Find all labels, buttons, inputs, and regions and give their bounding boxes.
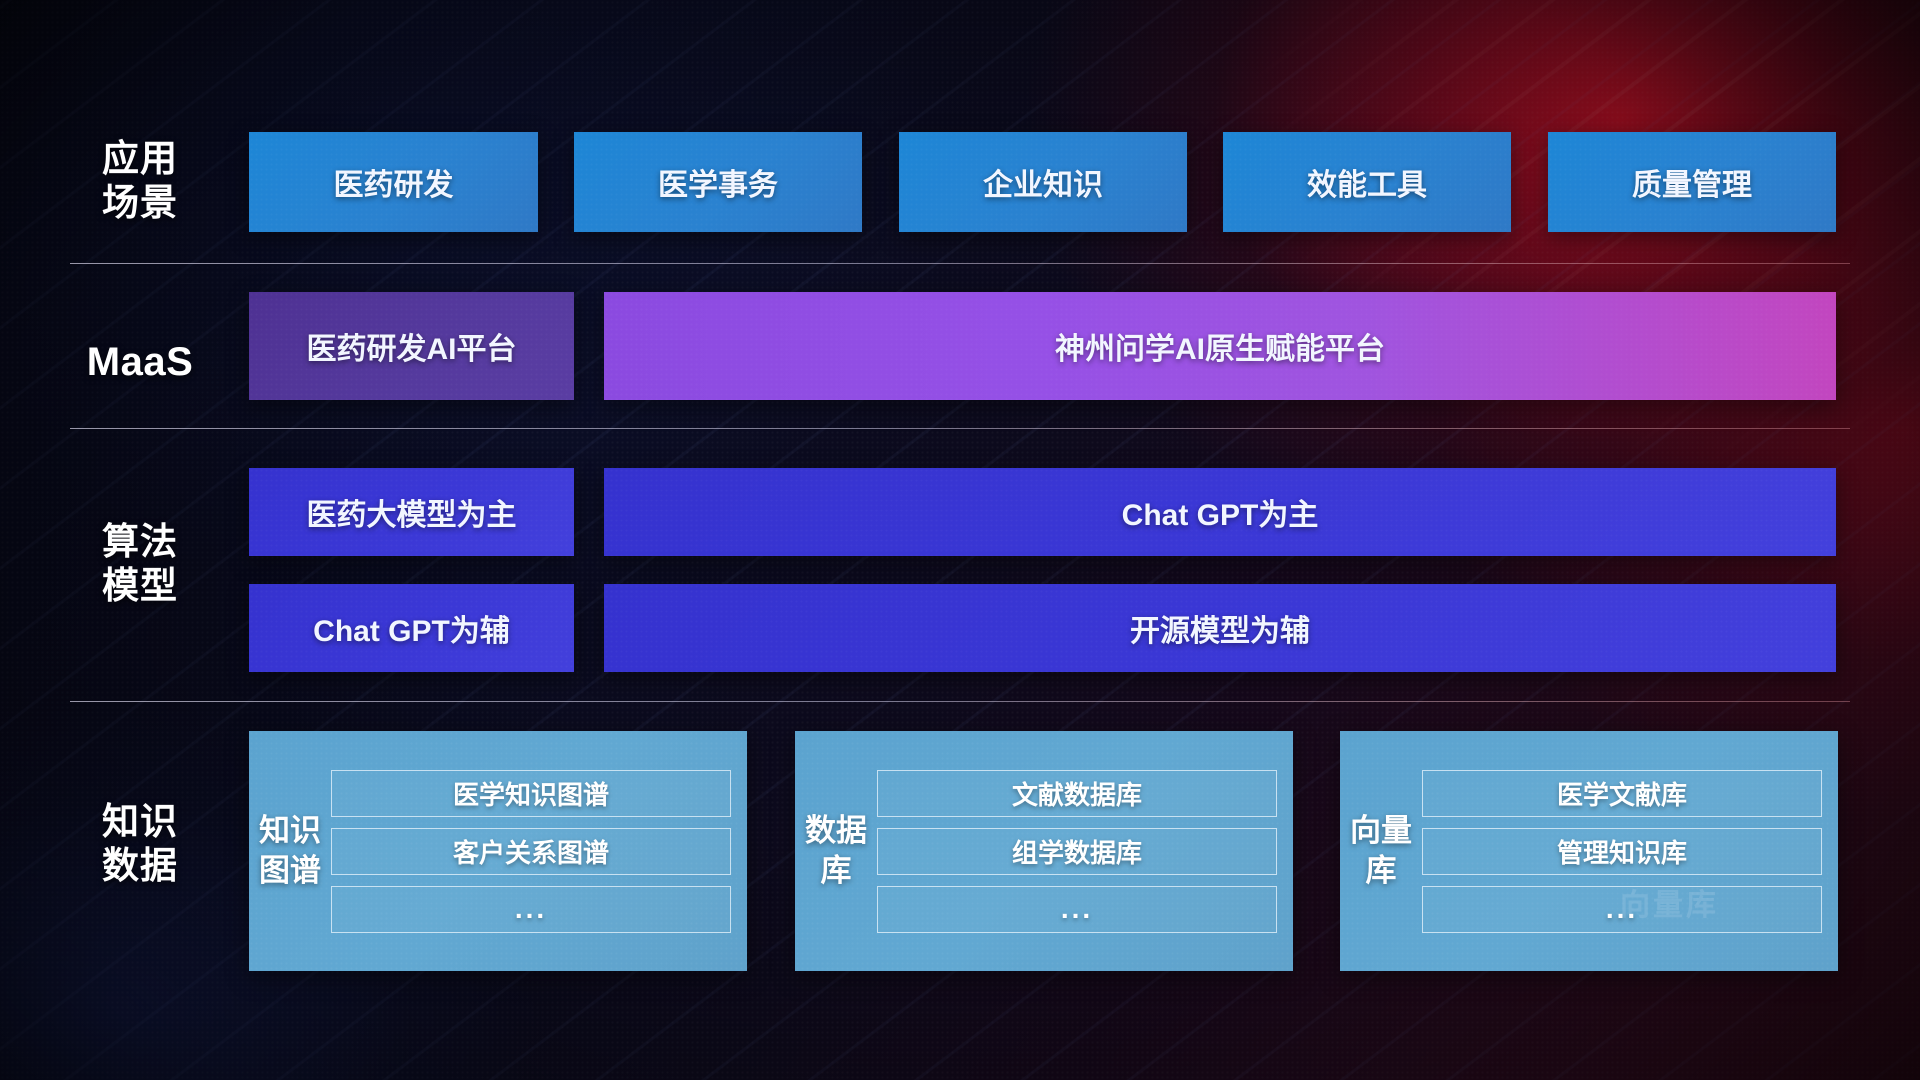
row-label-algorithm: 算法 模型 xyxy=(70,520,210,607)
divider-algorithm-knowledge xyxy=(70,701,1850,702)
knowledge-item-omics-database[interactable]: 组学数据库 xyxy=(877,828,1277,875)
app-box-quality-management-label: 质量管理 xyxy=(1632,160,1752,204)
row-label-algorithm-line2: 模型 xyxy=(70,564,210,608)
knowledge-item-customer-relation-graph[interactable]: 客户关系图谱 xyxy=(331,828,731,875)
knowledge-group-knowledge-graph[interactable]: 知识图谱 医学知识图谱 客户关系图谱 ... xyxy=(249,731,747,971)
maas-box-shenzhou-wenxue-platform-label: 神州问学AI原生赋能平台 xyxy=(1055,324,1385,368)
row-label-application: 应用 场景 xyxy=(70,137,210,224)
divider-maas-algorithm xyxy=(70,428,1850,429)
maas-box-drug-rnd-ai-platform-label: 医药研发AI平台 xyxy=(307,324,517,368)
row-label-algorithm-line1: 算法 xyxy=(70,520,210,564)
knowledge-group-vector-store-items: 医学文献库 管理知识库 ... xyxy=(1422,770,1822,933)
row-label-knowledge-line1: 知识 xyxy=(70,800,210,844)
row-label-application-line2: 场景 xyxy=(70,181,210,225)
app-box-enterprise-knowledge-label: 企业知识 xyxy=(983,160,1103,204)
knowledge-item-more-database[interactable]: ... xyxy=(877,886,1277,933)
algo-box-opensource-secondary-label: 开源模型为辅 xyxy=(1130,606,1310,650)
knowledge-group-database-items: 文献数据库 组学数据库 ... xyxy=(877,770,1277,933)
knowledge-item-more-vector-store[interactable]: ... xyxy=(1422,886,1822,933)
knowledge-item-more-knowledge-graph[interactable]: ... xyxy=(331,886,731,933)
algo-box-chatgpt-secondary-label: Chat GPT为辅 xyxy=(313,606,510,650)
knowledge-group-database-label: 数据库 xyxy=(805,811,867,892)
app-box-medical-affairs[interactable]: 医学事务 xyxy=(574,132,862,232)
app-box-medical-affairs-label: 医学事务 xyxy=(658,160,778,204)
architecture-diagram-slide: 应用 场景 医药研发 医学事务 企业知识 效能工具 质量管理 MaaS 医药研发… xyxy=(0,0,1920,1080)
maas-box-drug-rnd-ai-platform[interactable]: 医药研发AI平台 xyxy=(249,292,574,400)
knowledge-group-vector-store[interactable]: 向量库 医学文献库 管理知识库 ... xyxy=(1340,731,1838,971)
app-box-efficiency-tools-label: 效能工具 xyxy=(1307,160,1427,204)
algo-box-chatgpt-secondary[interactable]: Chat GPT为辅 xyxy=(249,584,574,672)
algo-box-drug-large-model-primary[interactable]: 医药大模型为主 xyxy=(249,468,574,556)
row-label-application-line1: 应用 xyxy=(70,137,210,181)
knowledge-group-knowledge-graph-label: 知识图谱 xyxy=(259,811,321,892)
row-label-maas-text: MaaS xyxy=(70,339,210,386)
maas-box-shenzhou-wenxue-platform[interactable]: 神州问学AI原生赋能平台 xyxy=(604,292,1836,400)
divider-application-maas xyxy=(70,263,1850,264)
knowledge-item-literature-database[interactable]: 文献数据库 xyxy=(877,770,1277,817)
knowledge-item-medical-knowledge-graph[interactable]: 医学知识图谱 xyxy=(331,770,731,817)
algo-box-opensource-secondary[interactable]: 开源模型为辅 xyxy=(604,584,1836,672)
row-label-knowledge-line2: 数据 xyxy=(70,844,210,888)
knowledge-group-vector-store-label: 向量库 xyxy=(1350,811,1412,892)
knowledge-group-database[interactable]: 数据库 文献数据库 组学数据库 ... xyxy=(795,731,1293,971)
app-box-enterprise-knowledge[interactable]: 企业知识 xyxy=(899,132,1187,232)
app-box-quality-management[interactable]: 质量管理 xyxy=(1548,132,1836,232)
algo-box-chatgpt-primary[interactable]: Chat GPT为主 xyxy=(604,468,1836,556)
knowledge-group-knowledge-graph-items: 医学知识图谱 客户关系图谱 ... xyxy=(331,770,731,933)
app-box-efficiency-tools[interactable]: 效能工具 xyxy=(1223,132,1511,232)
algo-box-drug-large-model-primary-label: 医药大模型为主 xyxy=(307,490,517,534)
algo-box-chatgpt-primary-label: Chat GPT为主 xyxy=(1122,490,1319,534)
app-box-drug-rnd[interactable]: 医药研发 xyxy=(249,132,538,232)
row-label-maas: MaaS xyxy=(70,339,210,386)
row-label-knowledge: 知识 数据 xyxy=(70,800,210,887)
diagram-content: 应用 场景 医药研发 医学事务 企业知识 效能工具 质量管理 MaaS 医药研发… xyxy=(0,0,1920,1080)
app-box-drug-rnd-label: 医药研发 xyxy=(334,160,454,204)
knowledge-item-medical-literature-store[interactable]: 医学文献库 xyxy=(1422,770,1822,817)
knowledge-item-management-knowledge-store[interactable]: 管理知识库 xyxy=(1422,828,1822,875)
